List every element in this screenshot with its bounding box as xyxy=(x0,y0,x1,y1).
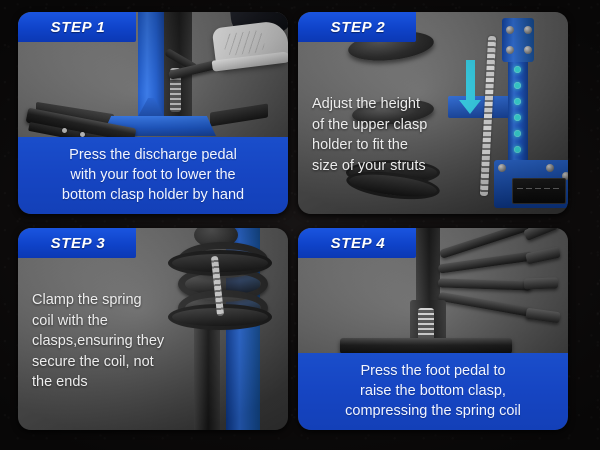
caption-line: coil with the xyxy=(32,311,197,332)
head-bolt xyxy=(524,26,532,34)
caption-line: size of your struts xyxy=(312,156,462,177)
step-badge-3: STEP 3 xyxy=(18,228,136,258)
post-head xyxy=(502,18,534,62)
caption-line: the ends xyxy=(32,372,197,393)
caption-line: compressing the spring coil xyxy=(306,401,560,421)
adjustment-hole xyxy=(514,146,521,153)
adjustment-hole xyxy=(514,130,521,137)
steps-grid: STEP 1 Press the discharge pedal with yo… xyxy=(0,0,600,450)
caption-line: raise the bottom clasp, xyxy=(306,381,560,401)
adjustment-hole xyxy=(514,114,521,121)
upper-base-plate xyxy=(340,338,512,354)
caption-line: Press the discharge pedal xyxy=(26,145,280,165)
black-column xyxy=(416,228,440,304)
step-card-3: STEP 3 Clamp the spring coil with the cl… xyxy=(18,228,288,430)
head-bolt xyxy=(506,26,514,34)
caption-line: clasps,ensuring they xyxy=(32,331,197,352)
pedal-pad-ghost xyxy=(523,228,559,241)
right-foot-plate xyxy=(210,103,268,126)
head-bolt xyxy=(506,46,514,54)
step-caption-1: Press the discharge pedal with your foot… xyxy=(18,137,288,214)
adjustment-hole xyxy=(514,66,521,73)
caption-line: Press the foot pedal to xyxy=(306,361,560,381)
pedal-pad-ghost xyxy=(525,247,561,265)
foot-pedal-pad xyxy=(525,308,560,324)
step-card-2: STEP 2 Adjust the height of the upper cl… xyxy=(298,12,568,214)
pedal-arm-ghost xyxy=(438,278,532,290)
adjustment-hole xyxy=(514,98,521,105)
bar-screw xyxy=(62,128,67,133)
head-bolt xyxy=(524,46,532,54)
step-card-4: STEP 4 Press the foot pedal to raise the… xyxy=(298,228,568,430)
step-badge-2: STEP 2 xyxy=(298,12,416,42)
caption-line: of the upper clasp xyxy=(312,115,462,136)
caption-line: Adjust the height xyxy=(312,94,462,115)
pedal-pad-ghost xyxy=(524,277,558,289)
caption-line: Clamp the spring xyxy=(32,290,197,311)
step-caption-4: Press the foot pedal to raise the bottom… xyxy=(298,353,568,430)
upper-clasp xyxy=(168,250,272,276)
down-arrow-icon xyxy=(466,60,475,100)
adjustment-hole xyxy=(514,82,521,89)
step-caption-2: Adjust the height of the upper clasp hol… xyxy=(312,94,462,176)
base-bolt xyxy=(498,164,506,172)
step-caption-3: Clamp the spring coil with the clasps,en… xyxy=(32,290,197,393)
foot-pedal-arm xyxy=(438,292,534,318)
step-card-1: STEP 1 Press the discharge pedal with yo… xyxy=(18,12,288,214)
step-badge-4: STEP 4 xyxy=(298,228,416,258)
caption-line: holder to fit the xyxy=(312,135,462,156)
caption-line: with your foot to lower the xyxy=(26,165,280,185)
caption-line: bottom clasp holder by hand xyxy=(26,185,280,205)
caption-line: secure the coil, not xyxy=(32,352,197,373)
product-label xyxy=(512,178,566,204)
step-badge-1: STEP 1 xyxy=(18,12,136,42)
base-bolt xyxy=(546,164,554,172)
